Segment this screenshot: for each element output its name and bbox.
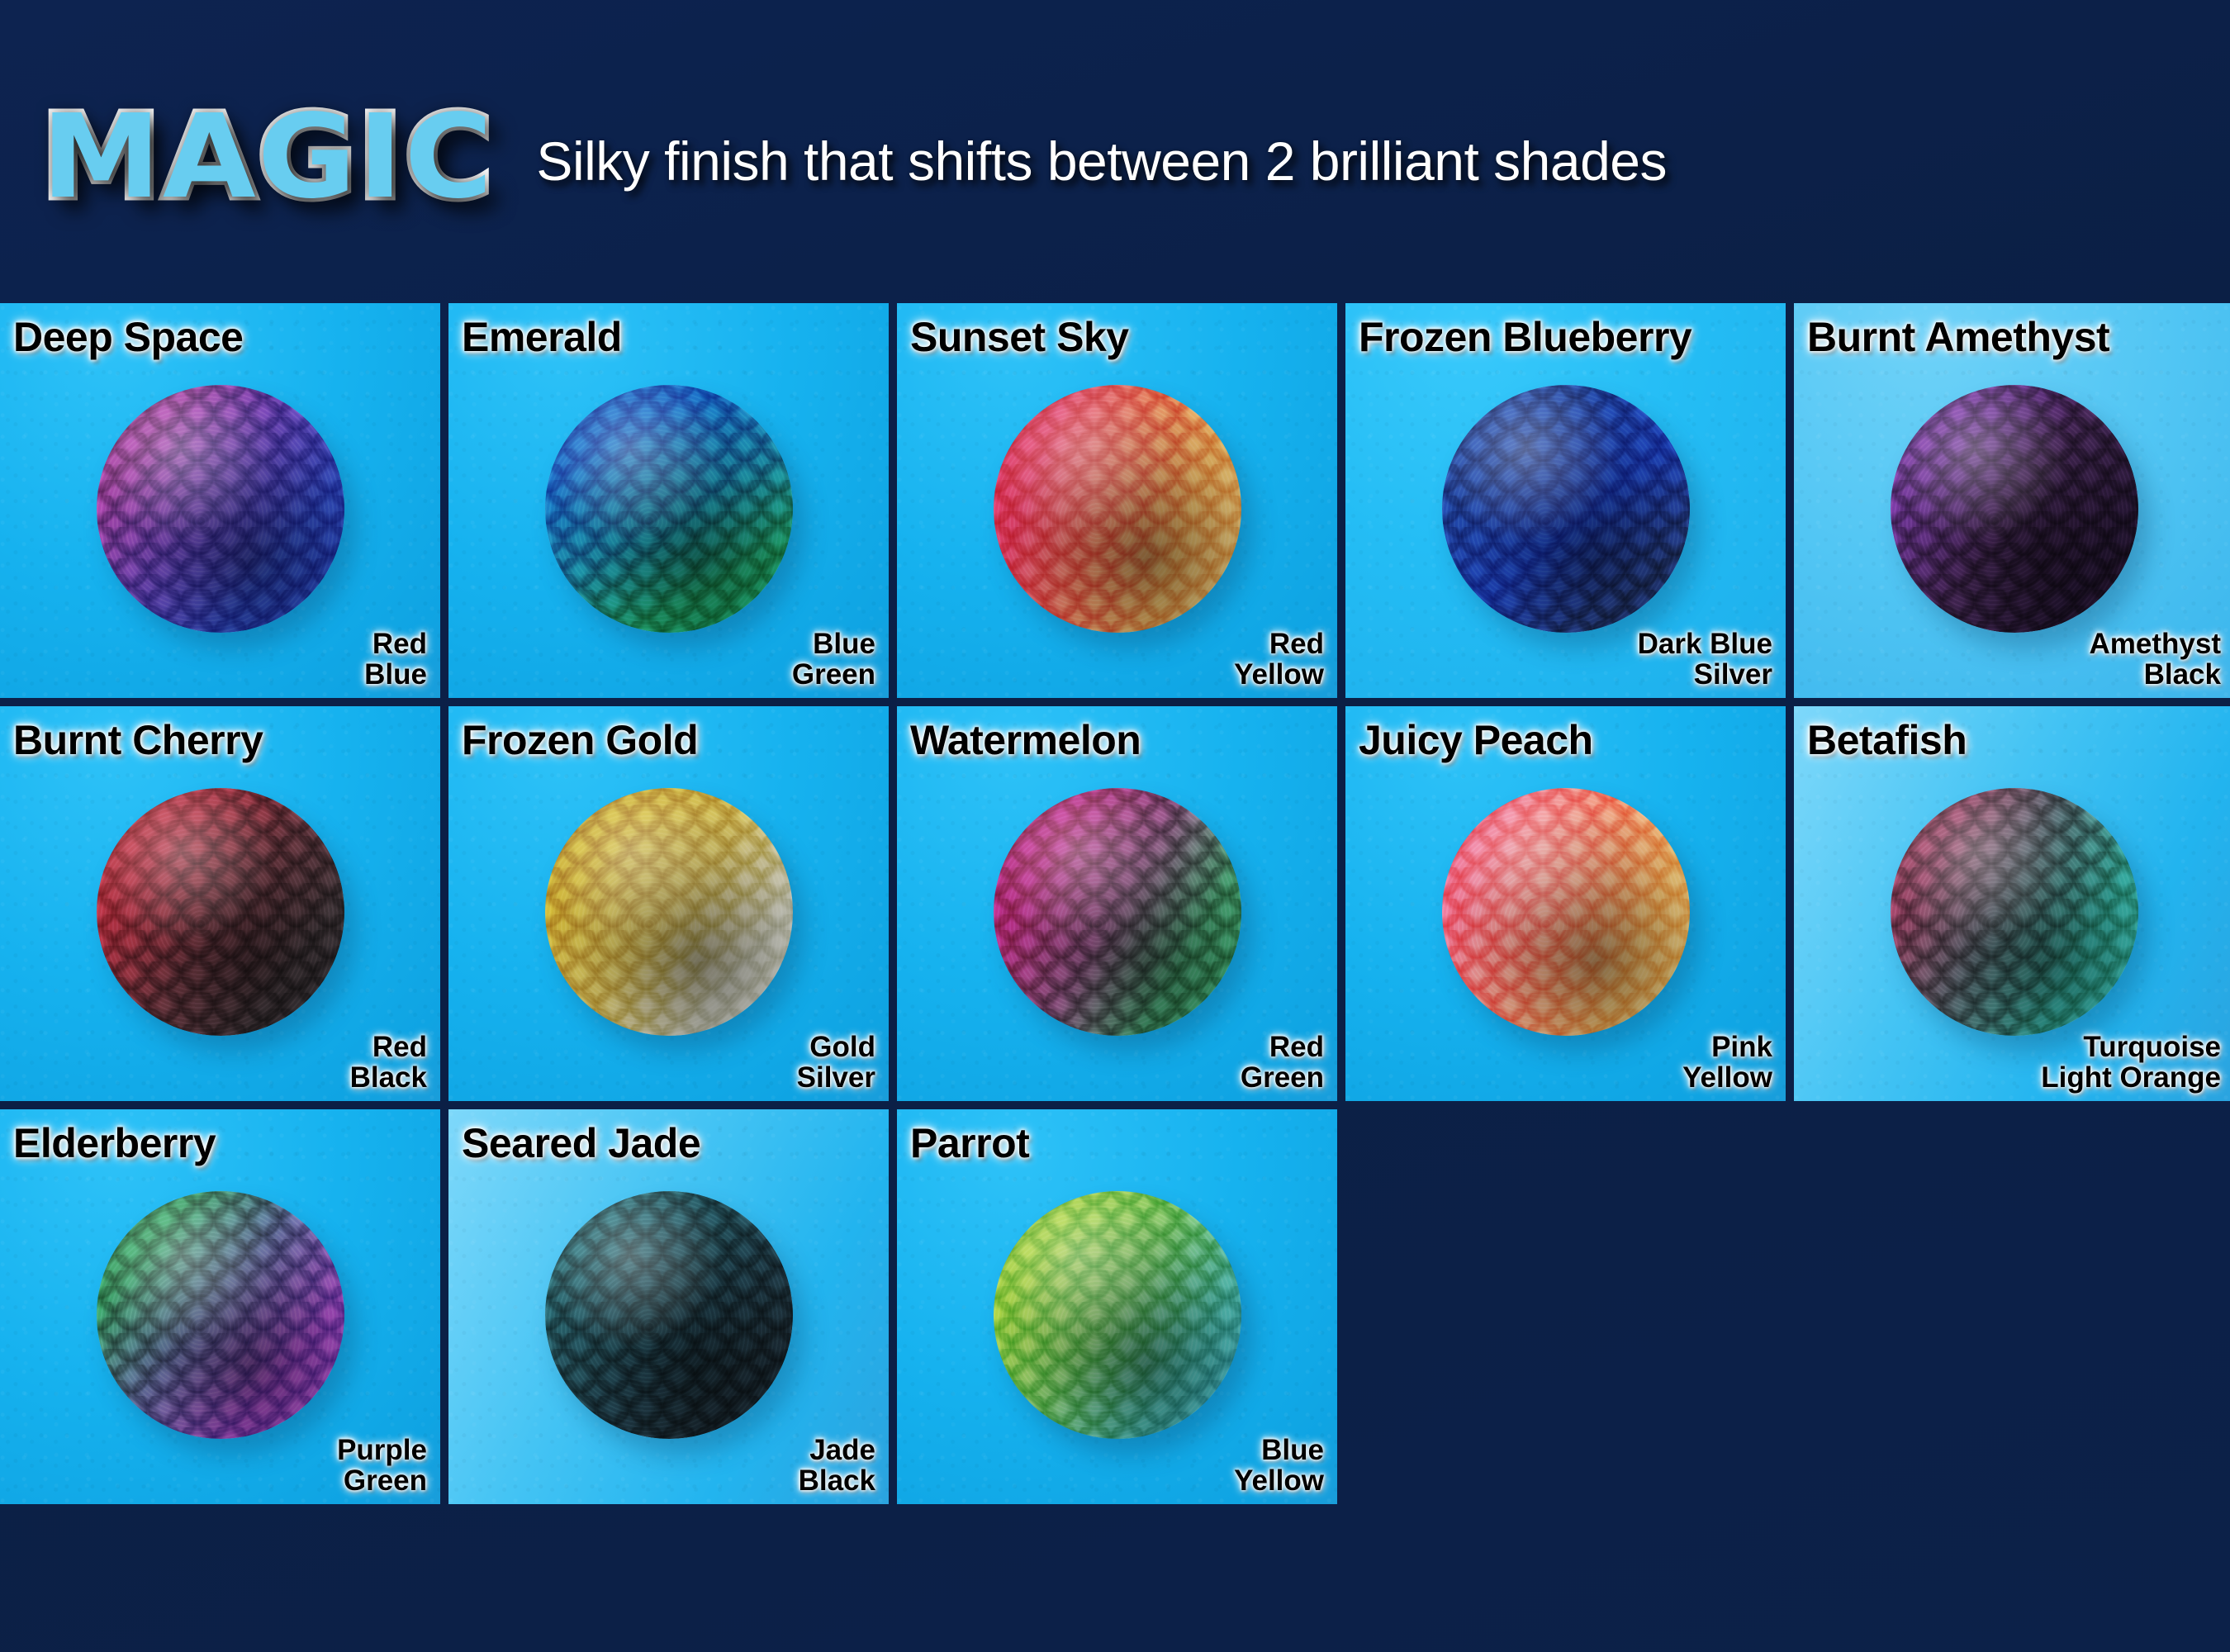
tile-color-name: Yellow [1682, 1062, 1772, 1093]
tile-color-pair: GoldSilver [797, 1032, 875, 1093]
swatch-tile[interactable]: ElderberryPurpleGreen [0, 1109, 440, 1504]
tile-color-pair: PurpleGreen [337, 1435, 427, 1496]
tile-color-name: Dark Blue [1638, 629, 1772, 659]
sphere-shading [97, 385, 344, 633]
tile-color-pair: RedYellow [1234, 629, 1324, 690]
tile-title: Burnt Amethyst [1807, 313, 2109, 361]
filament-sphere [97, 385, 344, 633]
sphere-shading [97, 1191, 344, 1439]
tile-color-pair: RedBlue [364, 629, 427, 690]
swatch-tile[interactable]: Frozen BlueberryDark BlueSilver [1345, 303, 1786, 698]
tile-title: Deep Space [13, 313, 243, 361]
swatch-grid: Deep SpaceRedBlueEmeraldBlueGreenSunset … [0, 303, 2230, 1512]
filament-sphere [994, 788, 1241, 1036]
tile-title: Emerald [462, 313, 622, 361]
swatch-poster: MAGIC Silky finish that shifts between 2… [0, 0, 2230, 1652]
filament-sphere [545, 1191, 793, 1439]
tile-title: Watermelon [910, 716, 1141, 764]
swatch-tile[interactable]: Deep SpaceRedBlue [0, 303, 440, 698]
filament-sphere [97, 1191, 344, 1439]
filament-sphere [1891, 788, 2138, 1036]
tile-color-name: Turquoise [2041, 1032, 2221, 1062]
tile-color-pair: BlueYellow [1234, 1435, 1324, 1496]
tile-color-name: Silver [1638, 659, 1772, 690]
sphere-shading [1891, 385, 2138, 633]
tile-color-pair: JadeBlack [799, 1435, 875, 1496]
tile-title: Juicy Peach [1359, 716, 1593, 764]
filament-sphere [545, 788, 793, 1036]
tile-color-name: Pink [1682, 1032, 1772, 1062]
tile-color-name: Yellow [1234, 659, 1324, 690]
tile-title: Elderberry [13, 1119, 216, 1167]
tile-color-pair: TurquoiseLight Orange [2041, 1032, 2221, 1093]
filament-sphere [97, 788, 344, 1036]
sphere-shading [97, 788, 344, 1036]
sphere-shading [545, 1191, 793, 1439]
brand-logo: MAGIC [41, 100, 477, 216]
sphere-shading [994, 788, 1241, 1036]
swatch-tile[interactable]: WatermelonRedGreen [897, 706, 1337, 1101]
tile-title: Burnt Cherry [13, 716, 263, 764]
tile-color-name: Red [1234, 629, 1324, 659]
sphere-shading [994, 385, 1241, 633]
sphere-shading [1442, 385, 1690, 633]
tile-color-name: Green [1241, 1062, 1324, 1093]
sphere-shading [1442, 788, 1690, 1036]
filament-sphere [994, 385, 1241, 633]
tile-color-name: Yellow [1234, 1465, 1324, 1496]
empty-grid-slot [1794, 1109, 2230, 1504]
tile-color-pair: RedBlack [350, 1032, 427, 1093]
sphere-shading [1891, 788, 2138, 1036]
swatch-row: Deep SpaceRedBlueEmeraldBlueGreenSunset … [0, 303, 2230, 698]
tile-color-name: Green [337, 1465, 427, 1496]
poster-header: MAGIC Silky finish that shifts between 2… [0, 0, 2230, 303]
tile-color-name: Black [2090, 659, 2221, 690]
tile-color-pair: RedGreen [1241, 1032, 1324, 1093]
swatch-tile[interactable]: Juicy PeachPinkYellow [1345, 706, 1786, 1101]
swatch-tile[interactable]: Seared JadeJadeBlack [448, 1109, 889, 1504]
swatch-tile[interactable]: Burnt CherryRedBlack [0, 706, 440, 1101]
tile-title: Sunset Sky [910, 313, 1129, 361]
swatch-tile[interactable]: Sunset SkyRedYellow [897, 303, 1337, 698]
tile-color-pair: AmethystBlack [2090, 629, 2221, 690]
tile-color-name: Gold [797, 1032, 875, 1062]
sphere-shading [994, 1191, 1241, 1439]
swatch-row: ElderberryPurpleGreenSeared JadeJadeBlac… [0, 1109, 2230, 1504]
filament-sphere [1891, 385, 2138, 633]
tile-color-name: Blue [1234, 1435, 1324, 1465]
tile-color-name: Light Orange [2041, 1062, 2221, 1093]
tile-color-name: Red [350, 1032, 427, 1062]
swatch-tile[interactable]: EmeraldBlueGreen [448, 303, 889, 698]
empty-grid-slot [1345, 1109, 1786, 1504]
tile-title: Frozen Blueberry [1359, 313, 1691, 361]
swatch-row: Burnt CherryRedBlackFrozen GoldGoldSilve… [0, 706, 2230, 1101]
tile-title: Seared Jade [462, 1119, 700, 1167]
tile-color-name: Blue [792, 629, 875, 659]
swatch-tile[interactable]: ParrotBlueYellow [897, 1109, 1337, 1504]
tile-color-name: Amethyst [2090, 629, 2221, 659]
tile-color-pair: Dark BlueSilver [1638, 629, 1772, 690]
filament-sphere [994, 1191, 1241, 1439]
tile-title: Betafish [1807, 716, 1967, 764]
sphere-shading [545, 788, 793, 1036]
tile-color-name: Red [364, 629, 427, 659]
swatch-tile[interactable]: Frozen GoldGoldSilver [448, 706, 889, 1101]
tile-color-pair: PinkYellow [1682, 1032, 1772, 1093]
tile-title: Parrot [910, 1119, 1029, 1167]
tile-color-name: Black [350, 1062, 427, 1093]
tile-color-name: Black [799, 1465, 875, 1496]
filament-sphere [1442, 788, 1690, 1036]
tile-title: Frozen Gold [462, 716, 698, 764]
poster-subtitle: Silky finish that shifts between 2 brill… [536, 130, 1667, 192]
tile-color-name: Jade [799, 1435, 875, 1465]
tile-color-name: Green [792, 659, 875, 690]
tile-color-name: Silver [797, 1062, 875, 1093]
tile-color-name: Blue [364, 659, 427, 690]
filament-sphere [545, 385, 793, 633]
sphere-shading [545, 385, 793, 633]
tile-color-name: Purple [337, 1435, 427, 1465]
tile-color-pair: BlueGreen [792, 629, 875, 690]
tile-color-name: Red [1241, 1032, 1324, 1062]
swatch-tile[interactable]: BetafishTurquoiseLight Orange [1794, 706, 2230, 1101]
swatch-tile[interactable]: Burnt AmethystAmethystBlack [1794, 303, 2230, 698]
filament-sphere [1442, 385, 1690, 633]
brand-title: MAGIC [41, 100, 495, 216]
